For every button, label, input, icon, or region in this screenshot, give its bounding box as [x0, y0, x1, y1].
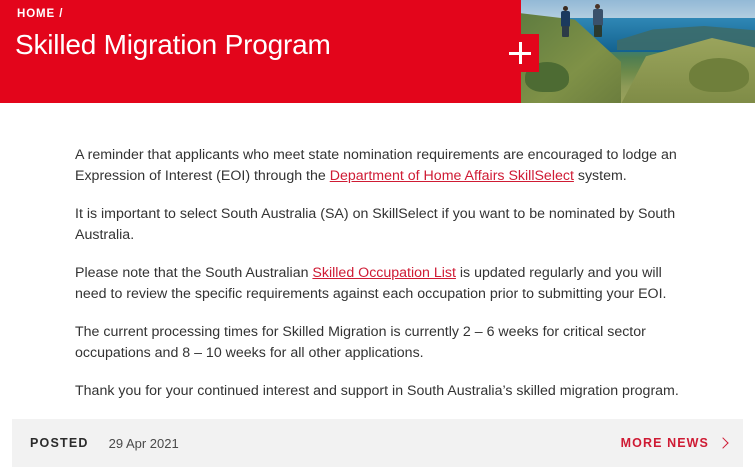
hero-banner: HOME / Skilled Migration Program	[0, 0, 755, 103]
article-paragraph: A reminder that applicants who meet stat…	[75, 145, 695, 186]
plus-icon[interactable]	[501, 34, 539, 72]
posted-label: POSTED	[30, 436, 89, 450]
article-paragraph: It is important to select South Australi…	[75, 204, 695, 245]
person-legs	[594, 25, 602, 37]
article-paragraph: Thank you for your continued interest an…	[75, 381, 695, 402]
article-paragraph: Please note that the South Australian Sk…	[75, 263, 695, 304]
more-news-label: MORE NEWS	[621, 436, 709, 450]
article-link[interactable]: Department of Home Affairs SkillSelect	[330, 168, 574, 184]
chevron-right-icon	[717, 437, 728, 448]
hero-text-block: HOME / Skilled Migration Program	[8, 6, 508, 81]
article-body: A reminder that applicants who meet stat…	[75, 145, 695, 402]
photo-person-right	[593, 4, 603, 36]
photo-shrub-right	[689, 58, 749, 92]
posted-date: 29 Apr 2021	[109, 436, 179, 451]
person-torso	[593, 9, 603, 26]
article-footer: POSTED 29 Apr 2021 MORE NEWS	[12, 419, 743, 467]
article-link[interactable]: Skilled Occupation List	[312, 265, 456, 281]
person-legs	[562, 26, 569, 37]
photo-person-left	[561, 6, 570, 36]
page-title: Skilled Migration Program	[8, 28, 508, 62]
article-paragraph: The current processing times for Skilled…	[75, 322, 695, 363]
breadcrumb[interactable]: HOME /	[8, 6, 508, 22]
page-root: HOME / Skilled Migration Program A remin…	[0, 0, 755, 471]
hero-photo	[521, 0, 755, 103]
more-news-link[interactable]: MORE NEWS	[621, 436, 727, 450]
person-torso	[561, 11, 570, 27]
